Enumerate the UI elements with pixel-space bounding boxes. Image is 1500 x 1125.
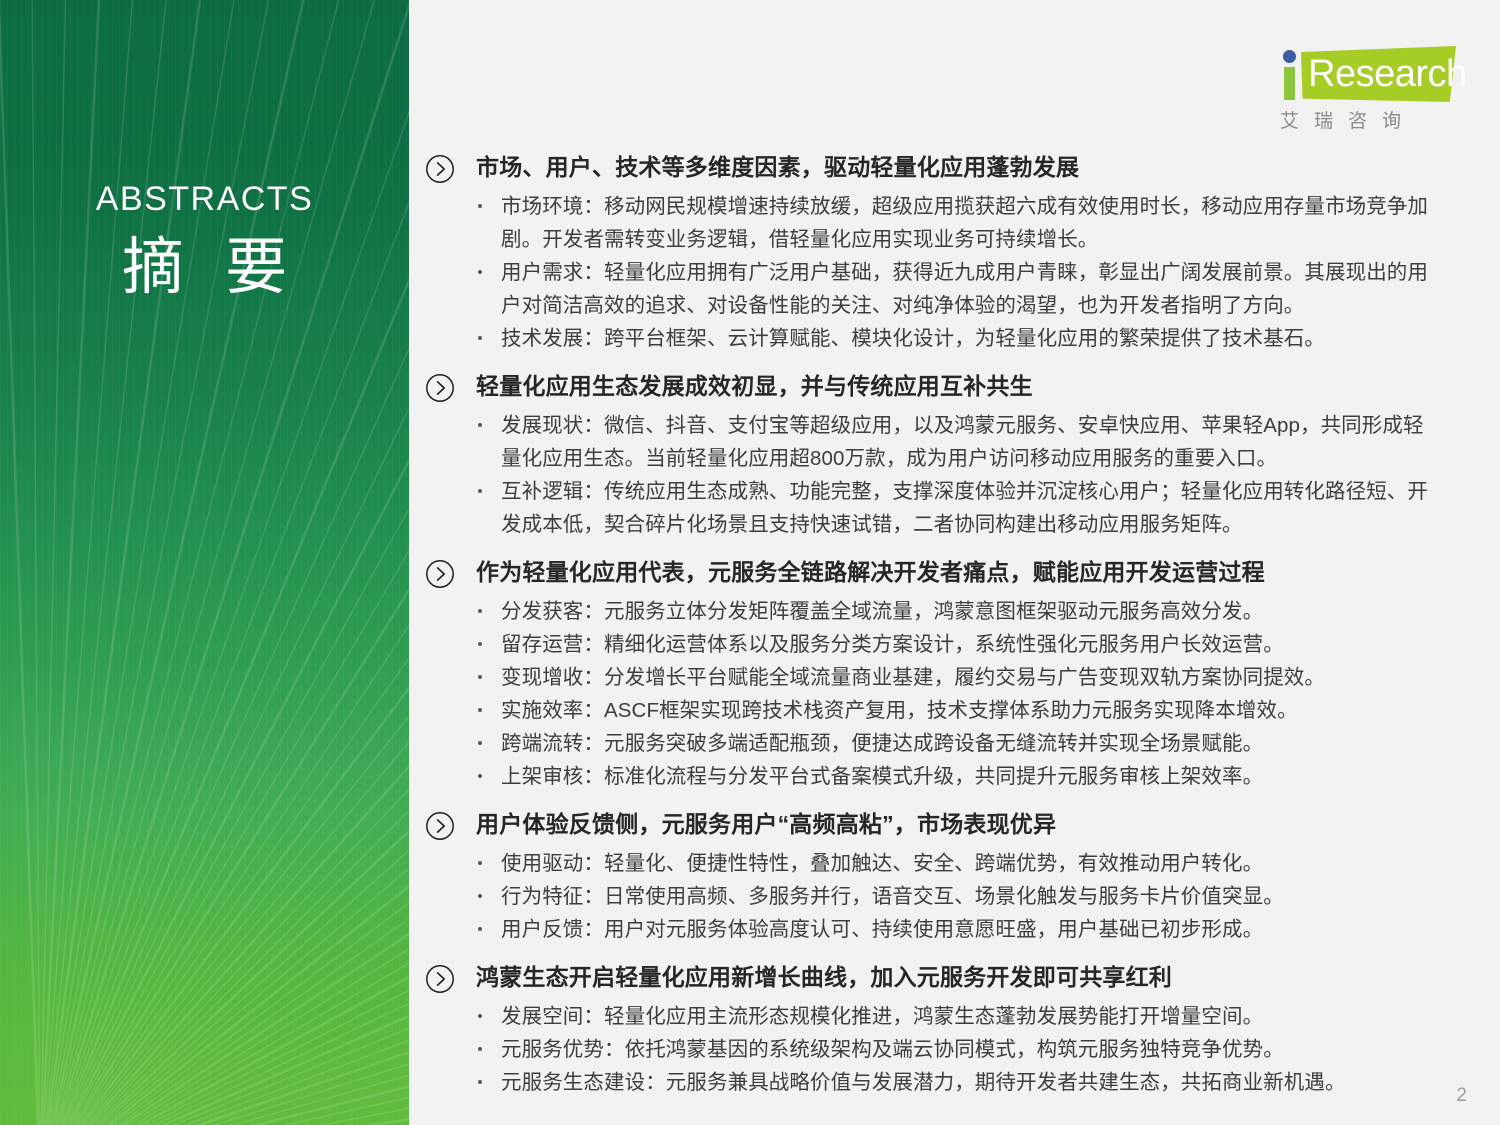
bullet-item: 实施效率：ASCF框架实现跨技术栈资产复用，技术支撑体系助力元服务实现降本增效。 [425,694,1435,727]
section-header: 用户体验反馈侧，元服务用户“高频高粘”，市场表现优异 [425,809,1435,841]
bullet-item: 跨端流转：元服务突破多端适配瓶颈，便捷达成跨设备无缝流转并实现全场景赋能。 [425,727,1435,760]
bullet-dot-icon [478,270,482,274]
bullet-text: 市场环境：移动网民规模增速持续放缓，超级应用揽获超六成有效使用时长，移动应用存量… [501,195,1428,251]
bullet-item: 留存运营：精细化运营体系以及服务分类方案设计，系统性强化元服务用户长效运营。 [425,628,1435,661]
chevron-right-circle-icon [425,811,455,841]
bullet-item: 发展空间：轻量化应用主流形态规模化推进，鸿蒙生态蓬勃发展势能打开增量空间。 [425,1000,1435,1033]
section-bullet-list: 发展空间：轻量化应用主流形态规模化推进，鸿蒙生态蓬勃发展势能打开增量空间。元服务… [425,1000,1435,1099]
bullet-item: 元服务优势：依托鸿蒙基因的系统级架构及端云协同模式，构筑元服务独特竞争优势。 [425,1033,1435,1066]
panel-title-block: ABSTRACTS 摘 要 [0,181,409,304]
bullet-item: 发展现状：微信、抖音、支付宝等超级应用，以及鸿蒙元服务、安卓快应用、苹果轻App… [425,409,1435,475]
bullet-text: 用户反馈：用户对元服务体验高度认可、持续使用意愿旺盛，用户基础已初步形成。 [501,918,1263,941]
abstract-section: 轻量化应用生态发展成效初显，并与传统应用互补共生发展现状：微信、抖音、支付宝等超… [425,371,1435,541]
bullet-text: 跨端流转：元服务突破多端适配瓶颈，便捷达成跨设备无缝流转并实现全场景赋能。 [501,732,1263,755]
section-header: 轻量化应用生态发展成效初显，并与传统应用互补共生 [425,371,1435,403]
abstract-section: 作为轻量化应用代表，元服务全链路解决开发者痛点，赋能应用开发运营过程分发获客：元… [425,557,1435,793]
bullet-dot-icon [478,774,482,778]
bullet-dot-icon [478,336,482,340]
section-bullet-list: 使用驱动：轻量化、便捷性特性，叠加触达、安全、跨端优势，有效推动用户转化。行为特… [425,847,1435,946]
bullet-dot-icon [478,204,482,208]
bullet-dot-icon [478,927,482,931]
bullet-text: 分发获客：元服务立体分发矩阵覆盖全域流量，鸿蒙意图框架驱动元服务高效分发。 [501,600,1263,623]
bullet-item: 互补逻辑：传统应用生态成熟、功能完整，支撑深度体验并沉淀核心用户；轻量化应用转化… [425,475,1435,541]
bullet-item: 上架审核：标准化流程与分发平台式备案模式升级，共同提升元服务审核上架效率。 [425,760,1435,793]
abstract-sections: 市场、用户、技术等多维度因素，驱动轻量化应用蓬勃发展市场环境：移动网民规模增速持… [425,152,1435,1115]
vertical-stripe-overlay [0,0,409,1125]
slide-abstracts: ABSTRACTS 摘 要 Research 艾瑞咨询 市场、用户、技术等多维度… [0,0,1500,1125]
chevron-right-circle-icon [425,964,455,994]
logo-wordmark: Research [1308,53,1467,95]
bullet-dot-icon [478,741,482,745]
chevron-right-circle-icon [425,373,455,403]
bullet-dot-icon [478,1047,482,1051]
bullet-item: 市场环境：移动网民规模增速持续放缓，超级应用揽获超六成有效使用时长，移动应用存量… [425,190,1435,256]
abstract-section: 鸿蒙生态开启轻量化应用新增长曲线，加入元服务开发即可共享红利发展空间：轻量化应用… [425,962,1435,1099]
panel-eyebrow: ABSTRACTS [0,181,409,218]
bullet-dot-icon [478,708,482,712]
section-title: 鸿蒙生态开启轻量化应用新增长曲线，加入元服务开发即可共享红利 [476,962,1172,993]
bullet-text: 留存运营：精细化运营体系以及服务分类方案设计，系统性强化元服务用户长效运营。 [501,633,1284,656]
bullet-text: 行为特征：日常使用高频、多服务并行，语音交互、场景化触发与服务卡片价值突显。 [501,885,1284,908]
bullet-text: 元服务生态建设：元服务兼具战略价值与发展潜力，期待开发者共建生态，共拓商业新机遇… [501,1071,1346,1094]
bullet-dot-icon [478,1080,482,1084]
bullet-dot-icon [478,609,482,613]
bullet-text: 技术发展：跨平台框架、云计算赋能、模块化设计，为轻量化应用的繁荣提供了技术基石。 [501,327,1325,350]
logo-chinese-name: 艾瑞咨询 [1280,106,1416,133]
bullet-dot-icon [478,423,482,427]
bullet-text: 实施效率：ASCF框架实现跨技术栈资产复用，技术支撑体系助力元服务实现降本增效。 [501,699,1298,722]
bullet-dot-icon [478,489,482,493]
logo-i-dot-icon [1283,50,1296,63]
bullet-dot-icon [478,894,482,898]
bullet-text: 使用驱动：轻量化、便捷性特性，叠加触达、安全、跨端优势，有效推动用户转化。 [501,852,1263,875]
bullet-text: 互补逻辑：传统应用生态成熟、功能完整，支撑深度体验并沉淀核心用户；轻量化应用转化… [501,480,1428,536]
section-header: 作为轻量化应用代表，元服务全链路解决开发者痛点，赋能应用开发运营过程 [425,557,1435,589]
abstract-section: 市场、用户、技术等多维度因素，驱动轻量化应用蓬勃发展市场环境：移动网民规模增速持… [425,152,1435,355]
section-bullet-list: 分发获客：元服务立体分发矩阵覆盖全域流量，鸿蒙意图框架驱动元服务高效分发。留存运… [425,595,1435,793]
section-header: 鸿蒙生态开启轻量化应用新增长曲线，加入元服务开发即可共享红利 [425,962,1435,994]
bullet-item: 用户需求：轻量化应用拥有广泛用户基础，获得近九成用户青睐，彰显出广阔发展前景。其… [425,256,1435,322]
bullet-dot-icon [478,642,482,646]
bullet-text: 上架审核：标准化流程与分发平台式备案模式升级，共同提升元服务审核上架效率。 [501,765,1263,788]
panel-title: 摘 要 [0,232,409,303]
iresearch-logo: Research 艾瑞咨询 [1268,40,1468,145]
section-header: 市场、用户、技术等多维度因素，驱动轻量化应用蓬勃发展 [425,152,1435,184]
section-bullet-list: 发展现状：微信、抖音、支付宝等超级应用，以及鸿蒙元服务、安卓快应用、苹果轻App… [425,409,1435,541]
bullet-item: 技术发展：跨平台框架、云计算赋能、模块化设计，为轻量化应用的繁荣提供了技术基石。 [425,322,1435,355]
bullet-item: 用户反馈：用户对元服务体验高度认可、持续使用意愿旺盛，用户基础已初步形成。 [425,913,1435,946]
page-number: 2 [1456,1085,1467,1107]
bullet-item: 使用驱动：轻量化、便捷性特性，叠加触达、安全、跨端优势，有效推动用户转化。 [425,847,1435,880]
left-green-panel [0,0,409,1125]
bullet-item: 元服务生态建设：元服务兼具战略价值与发展潜力，期待开发者共建生态，共拓商业新机遇… [425,1066,1435,1099]
bullet-dot-icon [478,675,482,679]
bullet-text: 元服务优势：依托鸿蒙基因的系统级架构及端云协同模式，构筑元服务独特竞争优势。 [501,1038,1284,1061]
chevron-right-circle-icon [425,154,455,184]
logo-i-stem-icon [1284,67,1295,100]
bullet-item: 分发获客：元服务立体分发矩阵覆盖全域流量，鸿蒙意图框架驱动元服务高效分发。 [425,595,1435,628]
bullet-dot-icon [478,1014,482,1018]
bullet-text: 变现增收：分发增长平台赋能全域流量商业基建，履约交易与广告变现双轨方案协同提效。 [501,666,1325,689]
section-title: 轻量化应用生态发展成效初显，并与传统应用互补共生 [476,371,1033,402]
section-title: 作为轻量化应用代表，元服务全链路解决开发者痛点，赋能应用开发运营过程 [476,557,1265,588]
section-title: 市场、用户、技术等多维度因素，驱动轻量化应用蓬勃发展 [476,152,1079,183]
section-title: 用户体验反馈侧，元服务用户“高频高粘”，市场表现优异 [476,809,1056,840]
section-bullet-list: 市场环境：移动网民规模增速持续放缓，超级应用揽获超六成有效使用时长，移动应用存量… [425,190,1435,355]
bullet-text: 用户需求：轻量化应用拥有广泛用户基础，获得近九成用户青睐，彰显出广阔发展前景。其… [501,261,1428,317]
logo-mark: Research [1268,40,1468,102]
bullet-text: 发展现状：微信、抖音、支付宝等超级应用，以及鸿蒙元服务、安卓快应用、苹果轻App… [501,414,1424,470]
chevron-right-circle-icon [425,559,455,589]
bullet-item: 行为特征：日常使用高频、多服务并行，语音交互、场景化触发与服务卡片价值突显。 [425,880,1435,913]
bullet-dot-icon [478,861,482,865]
bullet-item: 变现增收：分发增长平台赋能全域流量商业基建，履约交易与广告变现双轨方案协同提效。 [425,661,1435,694]
bullet-text: 发展空间：轻量化应用主流形态规模化推进，鸿蒙生态蓬勃发展势能打开增量空间。 [501,1005,1263,1028]
abstract-section: 用户体验反馈侧，元服务用户“高频高粘”，市场表现优异使用驱动：轻量化、便捷性特性… [425,809,1435,946]
